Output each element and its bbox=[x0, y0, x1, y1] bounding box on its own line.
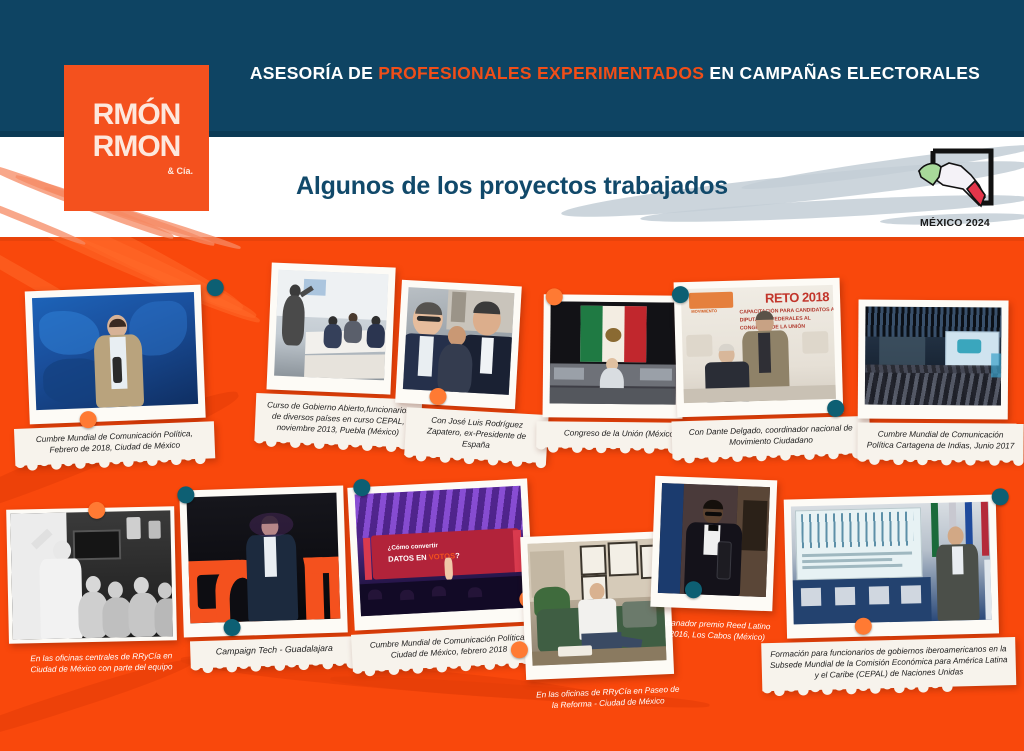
orange-top-edge bbox=[0, 237, 1024, 241]
logo-subtext: & Cía. bbox=[167, 166, 193, 176]
caption-text: Congreso de la Unión (México) bbox=[564, 428, 677, 438]
photo-image: RETO 2018 CAPACITACIÓN PARA CANDIDATOS A… bbox=[681, 285, 836, 403]
photo-card[interactable]: En las oficinas centrales de RRyCía en C… bbox=[6, 506, 178, 685]
photo-image bbox=[10, 510, 173, 639]
photo-content bbox=[403, 287, 515, 395]
headline-accent: PROFESIONALES EXPERIMENTADOS bbox=[378, 63, 704, 83]
photo-overlay-reto: RETO 2018 bbox=[765, 289, 835, 307]
photo-image bbox=[658, 483, 770, 597]
photo-frame bbox=[6, 506, 177, 643]
photo-image bbox=[403, 287, 515, 395]
photo-card[interactable]: Cumbre Mundial de Comunicación Política … bbox=[857, 299, 1008, 460]
photo-caption: Campaign Tech - Guadalajara bbox=[190, 636, 359, 668]
photo-card[interactable]: Campaign Tech - Guadalajara bbox=[179, 485, 349, 668]
pin-icon bbox=[546, 288, 563, 305]
logo-line-2: RMON bbox=[93, 132, 181, 162]
headline-post: EN CAMPAÑAS ELECTORALES bbox=[704, 63, 980, 83]
caption-text: Cumbre Mundial de Comunicación Política-… bbox=[370, 633, 528, 660]
photo-content bbox=[658, 483, 770, 597]
photo-image bbox=[550, 301, 677, 404]
caption-text: En las oficinas centrales de RRyCía en C… bbox=[30, 651, 172, 674]
photo-image bbox=[865, 307, 1002, 406]
photo-caption: Con Dante Delgado, coordinador nacional … bbox=[671, 416, 870, 459]
photo-content bbox=[550, 301, 677, 404]
headline-pre: ASESORÍA DE bbox=[250, 63, 378, 83]
photo-frame bbox=[25, 285, 206, 425]
photo-content bbox=[32, 292, 198, 410]
photo-caption: En las oficinas de RRyCía en Paseo de la… bbox=[524, 677, 691, 721]
photo-content bbox=[274, 270, 388, 381]
photo-content bbox=[10, 510, 173, 639]
photo-frame bbox=[395, 280, 522, 410]
photo-frame bbox=[266, 262, 395, 394]
photo-card[interactable]: Con José Luis Rodríguez Zapatero, ex-Pre… bbox=[392, 280, 522, 462]
torn-edge bbox=[857, 459, 1023, 467]
caption-text: Formación para funcionarios de gobiernos… bbox=[770, 644, 1008, 680]
caption-text: Ganador premio Reed Latino 2016, Los Cab… bbox=[665, 618, 771, 642]
caption-text: Curso de Gobierno Abierto,funcionarios d… bbox=[267, 400, 411, 437]
slide-canvas: ASESORÍA DE PROFESIONALES EXPERIMENTADOS… bbox=[0, 0, 1024, 751]
photo-image bbox=[274, 270, 388, 381]
mexico-2024-badge: MÉXICO 2024 bbox=[905, 145, 1005, 237]
photo-frame: ¿Cómo convertir DATOS EN VOTOS? bbox=[347, 478, 534, 630]
photo-overlay-datos: DATOS bbox=[388, 553, 414, 563]
photo-image bbox=[186, 493, 340, 624]
photo-caption: Formación para funcionarios de gobiernos… bbox=[761, 637, 1016, 691]
caption-text: Cumbre Mundial de Comunicación Política,… bbox=[36, 429, 193, 455]
photo-overlay-mc: MOVIMIENTO CIUDADANO bbox=[691, 308, 731, 315]
photo-caption: Cumbre Mundial de Comunicación Política … bbox=[857, 422, 1023, 460]
photo-content: ¿Cómo convertir DATOS EN VOTOS? bbox=[355, 486, 527, 617]
photo-image bbox=[32, 292, 198, 410]
caption-text: Cumbre Mundial de Comunicación Política … bbox=[867, 430, 1015, 451]
brand-logo[interactable]: RMÓN RMON & Cía. bbox=[64, 65, 209, 211]
photo-frame bbox=[784, 494, 999, 638]
photo-card[interactable]: ¿Cómo convertir DATOS EN VOTOS? Cumbre M… bbox=[347, 478, 536, 671]
photo-card[interactable]: RETO 2018 CAPACITACIÓN PARA CANDIDATOS A… bbox=[674, 278, 845, 459]
headline: ASESORÍA DE PROFESIONALES EXPERIMENTADOS… bbox=[230, 63, 1000, 84]
photo-frame bbox=[650, 476, 777, 612]
photo-caption: En las oficinas centrales de RRyCía en C… bbox=[9, 644, 194, 685]
photo-card[interactable]: Curso de Gobierno Abierto,funcionarios d… bbox=[264, 262, 395, 446]
photo-content bbox=[865, 307, 1002, 406]
mexico-ballot-box-icon bbox=[905, 145, 1005, 217]
photo-content bbox=[186, 493, 340, 624]
photo-frame: RETO 2018 CAPACITACIÓN PARA CANDIDATOS A… bbox=[674, 278, 844, 418]
photo-caption: Con José Luis Rodríguez Zapatero, ex-Pre… bbox=[404, 407, 548, 463]
photo-content: RETO 2018 CAPACITACIÓN PARA CANDIDATOS A… bbox=[681, 285, 836, 403]
pin-icon bbox=[827, 400, 844, 417]
caption-text: Con José Luis Rodríguez Zapatero, ex-Pre… bbox=[427, 416, 527, 450]
photo-image: ¿Cómo convertir DATOS EN VOTOS? bbox=[355, 486, 527, 617]
badge-label: MÉXICO 2024 bbox=[905, 217, 1005, 229]
photo-card[interactable]: Ganador premio Reed Latino 2016, Los Cab… bbox=[649, 476, 778, 653]
logo-line-1: RMÓN bbox=[93, 100, 181, 130]
photo-frame bbox=[858, 299, 1009, 419]
photo-image bbox=[791, 502, 992, 625]
photo-caption: Cumbre Mundial de Comunicación Política,… bbox=[14, 421, 215, 466]
photo-frame bbox=[543, 294, 684, 418]
photo-card[interactable]: Formación para funcionarios de gobiernos… bbox=[784, 494, 1001, 690]
caption-text: Campaign Tech - Guadalajara bbox=[216, 643, 333, 657]
caption-text: En las oficinas de RRyCía en Paseo de la… bbox=[536, 685, 680, 710]
photo-card[interactable]: Congreso de la Unión (México) bbox=[542, 294, 684, 449]
photo-card[interactable]: Cumbre Mundial de Comunicación Política,… bbox=[25, 285, 208, 466]
photo-content bbox=[791, 502, 992, 625]
caption-text: Con Dante Delgado, coordinador nacional … bbox=[689, 423, 853, 447]
photo-frame bbox=[179, 485, 348, 637]
